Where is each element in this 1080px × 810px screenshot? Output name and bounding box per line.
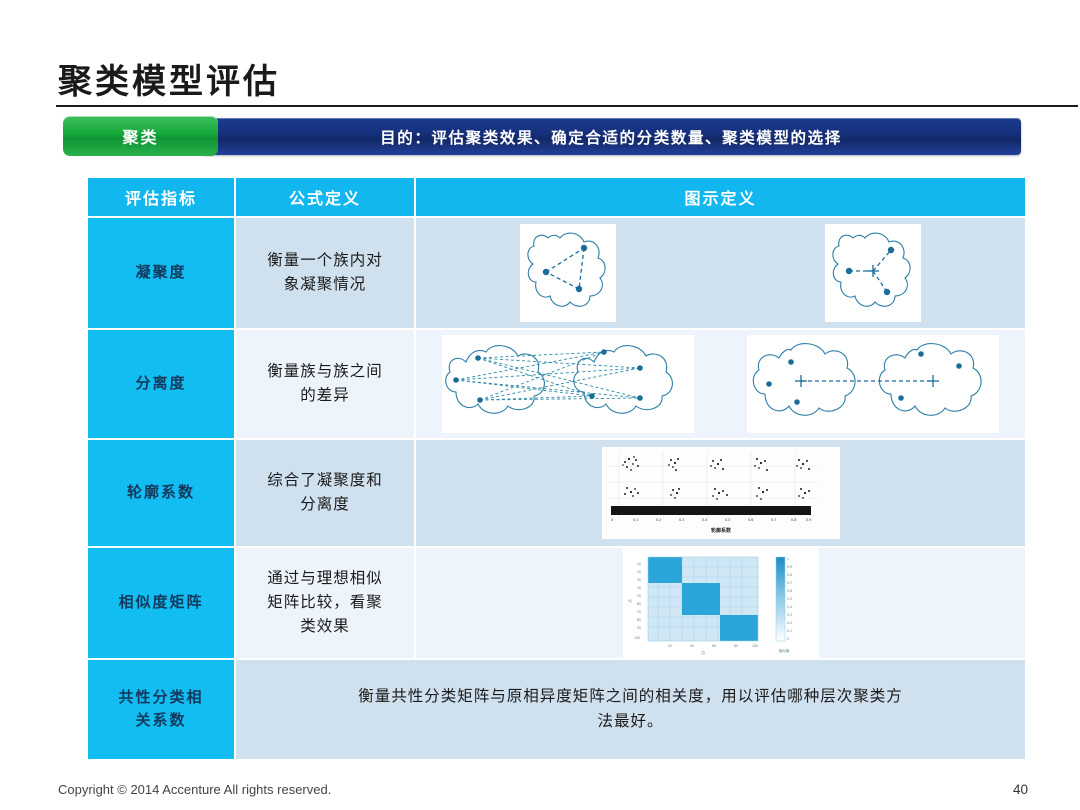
svg-text:0.4: 0.4	[702, 518, 707, 522]
svg-text:0: 0	[611, 518, 613, 522]
page-title: 聚类模型评估	[58, 54, 280, 103]
svg-text:60: 60	[712, 644, 716, 648]
svg-text:相似度: 相似度	[778, 648, 789, 653]
svg-text:30: 30	[637, 578, 641, 582]
description-cell-cophenetic: 衡量共性分类矩阵与原相异度矩阵之间的相关度，用以评估哪种层次聚类方 法最好。	[235, 659, 1025, 759]
svg-text:80: 80	[637, 618, 641, 622]
svg-text:50: 50	[637, 594, 641, 598]
svg-text:0.3: 0.3	[787, 613, 792, 617]
table-row: 凝聚度 衡量一个族内对 象凝聚情况	[88, 217, 1025, 329]
svg-text:70: 70	[637, 610, 641, 614]
svg-text:0.6: 0.6	[787, 589, 792, 593]
metric-cell-cohesion: 凝聚度	[88, 217, 235, 329]
table-row: 轮廓系数 综合了凝聚度和 分离度	[88, 439, 1025, 547]
svg-text:100: 100	[752, 644, 758, 648]
similarity-matrix-heatmap: 102030 405060 708090 100 204060 80100 点 …	[623, 548, 819, 658]
separation-allpairs-diagram	[442, 335, 694, 433]
purpose-banner: 目的：评估聚类效果、确定合适的分类数量、聚类模型的选择	[201, 118, 1021, 155]
svg-text:20: 20	[637, 570, 641, 574]
cohesion-graph-diagram	[520, 224, 616, 322]
svg-text:0.2: 0.2	[656, 518, 661, 522]
svg-text:0.5: 0.5	[725, 518, 730, 522]
figure-cell-similarity-matrix: 102030 405060 708090 100 204060 80100 点 …	[415, 547, 1025, 659]
svg-text:轮廓系数: 轮廓系数	[710, 527, 731, 534]
purpose-banner-text: 目的：评估聚类效果、确定合适的分类数量、聚类模型的选择	[380, 126, 842, 148]
svg-text:60: 60	[637, 602, 641, 606]
metric-cell-cophenetic: 共性分类相 关系数	[88, 659, 235, 759]
svg-text:0.1: 0.1	[633, 518, 638, 522]
formula-cell-similarity-matrix: 通过与理想相似 矩阵比较，看聚 类效果	[235, 547, 415, 659]
svg-text:0.8: 0.8	[791, 518, 796, 522]
figure-cell-separation	[415, 329, 1025, 439]
figure-cell-cohesion	[415, 217, 1025, 329]
metric-cell-similarity-matrix: 相似度矩阵	[88, 547, 235, 659]
column-header-formula: 公式定义	[235, 178, 415, 217]
table-row: 共性分类相 关系数 衡量共性分类矩阵与原相异度矩阵之间的相关度，用以评估哪种层次…	[88, 659, 1025, 759]
evaluation-table: 评估指标 公式定义 图示定义 凝聚度 衡量一个族内对 象凝聚情况	[88, 178, 1025, 759]
svg-text:100: 100	[634, 636, 640, 640]
svg-text:0.7: 0.7	[771, 518, 776, 522]
svg-text:40: 40	[637, 586, 641, 590]
figure-cell-silhouette: 00.10.2 0.30.40.5 0.60.70.8 0.9 轮廓系数	[415, 439, 1025, 547]
svg-text:0.1: 0.1	[787, 629, 792, 633]
metric-cell-separation: 分离度	[88, 329, 235, 439]
table-row: 相似度矩阵 通过与理想相似 矩阵比较，看聚 类效果	[88, 547, 1025, 659]
separation-centroid-diagram	[747, 335, 999, 433]
svg-text:90: 90	[637, 626, 641, 630]
svg-text:0.9: 0.9	[806, 518, 811, 522]
page-number: 40	[1013, 782, 1028, 797]
svg-text:0.6: 0.6	[748, 518, 753, 522]
table-row: 分离度 衡量族与族之间 的差异	[88, 329, 1025, 439]
svg-text:点: 点	[627, 599, 632, 603]
title-divider	[56, 105, 1078, 107]
section-tag-label: 聚类	[122, 124, 158, 148]
silhouette-plot: 00.10.2 0.30.40.5 0.60.70.8 0.9 轮廓系数	[602, 447, 840, 539]
formula-cell-separation: 衡量族与族之间 的差异	[235, 329, 415, 439]
cohesion-centroid-diagram	[825, 224, 921, 322]
svg-text:40: 40	[690, 644, 694, 648]
formula-cell-cohesion: 衡量一个族内对 象凝聚情况	[235, 217, 415, 329]
metric-cell-silhouette: 轮廓系数	[88, 439, 235, 547]
column-header-figure: 图示定义	[415, 178, 1025, 217]
section-tag-clustering[interactable]: 聚类	[63, 116, 218, 156]
table-header-row: 评估指标 公式定义 图示定义	[88, 178, 1025, 217]
svg-text:点: 点	[701, 650, 705, 655]
svg-text:0.4: 0.4	[787, 605, 792, 609]
svg-text:0: 0	[787, 637, 789, 641]
svg-text:1: 1	[787, 557, 789, 561]
svg-text:80: 80	[734, 644, 738, 648]
svg-text:0.8: 0.8	[787, 573, 792, 577]
svg-text:0.9: 0.9	[787, 565, 792, 569]
copyright-text: Copyright © 2014 Accenture All rights re…	[58, 782, 331, 797]
formula-cell-silhouette: 综合了凝聚度和 分离度	[235, 439, 415, 547]
svg-text:0.2: 0.2	[787, 621, 792, 625]
svg-text:0.3: 0.3	[679, 518, 684, 522]
svg-text:0.5: 0.5	[787, 597, 792, 601]
svg-text:20: 20	[668, 644, 672, 648]
svg-text:0.7: 0.7	[787, 581, 792, 585]
column-header-metric: 评估指标	[88, 178, 235, 217]
svg-text:10: 10	[637, 562, 641, 566]
banner: 聚类 目的：评估聚类效果、确定合适的分类数量、聚类模型的选择	[63, 116, 1021, 156]
